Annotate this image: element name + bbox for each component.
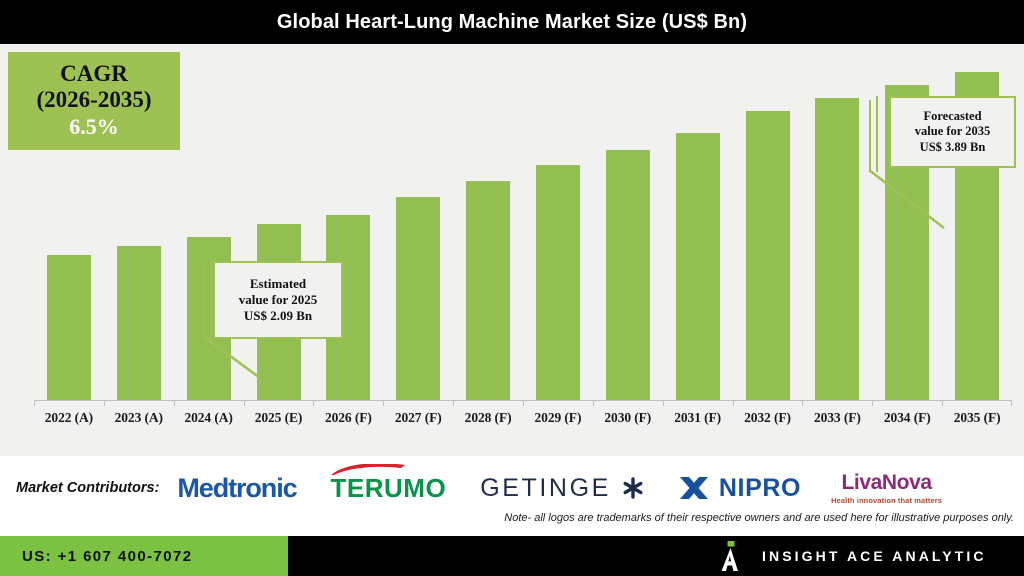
estimated-callout-tail-outer	[203, 266, 206, 336]
x-label-2023: 2023 (A)	[104, 410, 174, 434]
getinge-asterisk-icon	[621, 476, 645, 500]
x-label-2024: 2024 (A)	[174, 410, 244, 434]
brand-name: INSIGHT ACE ANALYTIC	[762, 548, 987, 564]
x-tick	[523, 400, 593, 406]
getinge-logo-text: GETINGE	[480, 474, 611, 503]
forecast-callout-line1: Forecasted	[923, 109, 981, 125]
nipro-logo-text: NIPRO	[719, 474, 801, 503]
bar-2028[interactable]	[466, 181, 510, 400]
x-label-2032: 2032 (F)	[733, 410, 803, 434]
x-label-2031: 2031 (F)	[663, 410, 733, 434]
x-tick	[383, 400, 453, 406]
bar-slot	[593, 54, 663, 400]
bar-slot	[34, 54, 104, 400]
medtronic-logo: Medtronic	[177, 473, 296, 504]
x-tick	[593, 400, 663, 406]
logo-row: Market Contributors: Medtronic TERUMO GE…	[0, 464, 1024, 512]
x-tick	[663, 400, 733, 406]
x-tick	[942, 400, 1012, 406]
x-label-2034: 2034 (F)	[872, 410, 942, 434]
bar-2033[interactable]	[815, 98, 859, 400]
bar-slot	[523, 54, 593, 400]
x-tick	[104, 400, 174, 406]
x-label-2027: 2027 (F)	[383, 410, 453, 434]
x-tick	[872, 400, 942, 406]
x-label-2025: 2025 (E)	[244, 410, 314, 434]
x-label-2029: 2029 (F)	[523, 410, 593, 434]
estimated-callout-line2: value for 2025	[239, 292, 317, 308]
forecast-callout-tail-inner	[876, 96, 879, 172]
forecast-callout-line2: value for 2035	[915, 124, 990, 140]
x-tick	[802, 400, 872, 406]
bar-slot	[733, 54, 803, 400]
nipro-logo: NIPRO	[677, 473, 801, 503]
trademark-note: Note- all logos are trademarks of their …	[504, 512, 1014, 526]
brand-block: INSIGHT ACE ANALYTIC	[718, 536, 987, 576]
getinge-logo: GETINGE	[480, 474, 645, 503]
x-label-2033: 2033 (F)	[802, 410, 872, 434]
forecast-value-callout: Forecasted value for 2035 US$ 3.89 Bn	[889, 96, 1016, 168]
bar-slot	[453, 54, 523, 400]
page-header: Global Heart-Lung Machine Market Size (U…	[0, 0, 1024, 44]
forecast-callout-leader	[866, 166, 956, 236]
page-title: Global Heart-Lung Machine Market Size (U…	[277, 11, 747, 34]
nipro-mark-icon	[677, 473, 711, 503]
estimated-callout-leader	[200, 332, 280, 382]
market-contributors-strip: Market Contributors: Medtronic TERUMO GE…	[0, 456, 1024, 536]
estimated-value-callout: Estimated value for 2025 US$ 2.09 Bn	[213, 261, 343, 339]
x-tick	[34, 400, 104, 406]
bar-2022[interactable]	[47, 255, 91, 400]
livanova-logo-text: LivaNova	[841, 472, 931, 493]
x-tick	[313, 400, 383, 406]
market-contributors-label: Market Contributors:	[16, 480, 159, 496]
x-label-2030: 2030 (F)	[593, 410, 663, 434]
forecast-callout-line3: US$ 3.89 Bn	[920, 140, 986, 156]
bar-2032[interactable]	[746, 111, 790, 400]
bar-slot	[313, 54, 383, 400]
estimated-callout-line3: US$ 2.09 Bn	[244, 308, 312, 324]
chart-panel: CAGR (2026-2035) 6.5% 2022 (A)2023 (A)20…	[0, 44, 1024, 456]
x-label-2028: 2028 (F)	[453, 410, 523, 434]
bar-slot	[663, 54, 733, 400]
estimated-callout-line1: Estimated	[250, 276, 306, 292]
bar-2029[interactable]	[536, 165, 580, 400]
bar-slot	[104, 54, 174, 400]
x-tick	[733, 400, 803, 406]
bar-2027[interactable]	[396, 197, 440, 400]
livanova-logo: LivaNova Health innovation that matters	[831, 472, 942, 505]
bar-slot	[383, 54, 453, 400]
x-axis-ticks	[34, 400, 1012, 406]
x-axis-labels: 2022 (A)2023 (A)2024 (A)2025 (E)2026 (F)…	[34, 410, 1012, 434]
x-tick	[174, 400, 244, 406]
terumo-swoosh-icon	[331, 464, 405, 476]
phone-bar: US: +1 607 400-7072	[0, 536, 288, 576]
terumo-logo-text: TERUMO	[331, 473, 447, 504]
bar-2023[interactable]	[117, 246, 161, 400]
x-label-2022: 2022 (A)	[34, 410, 104, 434]
x-label-2035: 2035 (F)	[942, 410, 1012, 434]
bar-2030[interactable]	[606, 150, 650, 400]
x-tick	[453, 400, 523, 406]
bar-2031[interactable]	[676, 133, 720, 400]
forecast-callout-tail-outer	[869, 100, 872, 170]
livanova-tagline: Health innovation that matters	[831, 496, 942, 505]
x-label-2026: 2026 (F)	[313, 410, 383, 434]
contact-phone[interactable]: US: +1 607 400-7072	[22, 548, 192, 565]
insightace-logo-icon	[718, 541, 744, 571]
terumo-logo: TERUMO	[331, 473, 447, 504]
bar-slot	[802, 54, 872, 400]
page-footer: US: +1 607 400-7072 INSIGHT ACE ANALYTIC	[0, 536, 1024, 576]
x-tick	[244, 400, 314, 406]
